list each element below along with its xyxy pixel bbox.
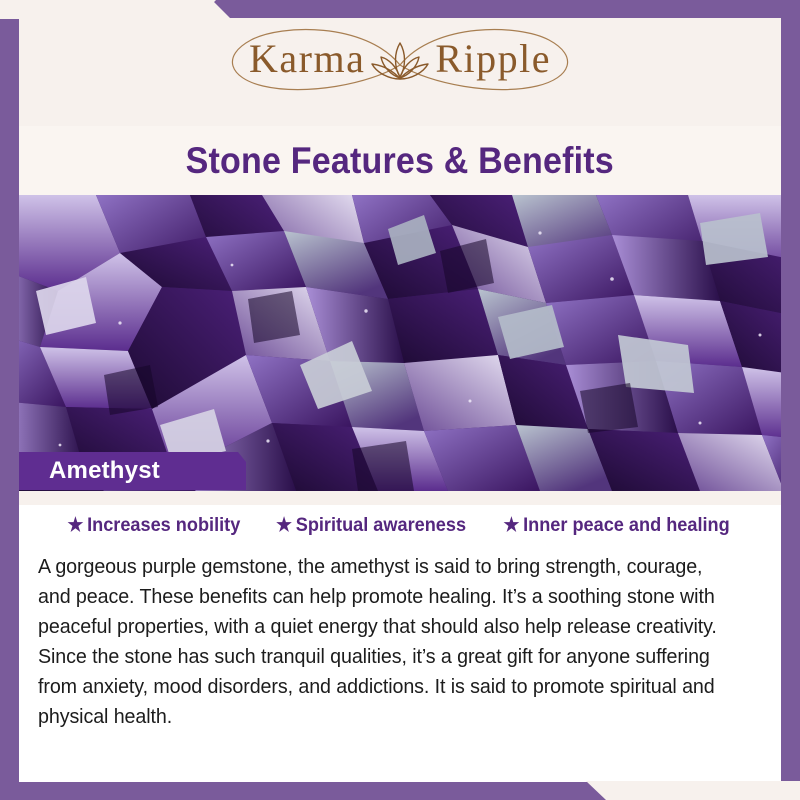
panel-top-strip [19, 491, 781, 505]
content-panel: ★ Increases nobility ★ Spiritual awarene… [19, 491, 781, 782]
benefits-list: ★ Increases nobility ★ Spiritual awarene… [19, 514, 781, 537]
benefit-label: Inner peace and healing [523, 514, 730, 537]
stone-description: A gorgeous purple gemstone, the amethyst… [38, 552, 739, 732]
lotus-icon [369, 37, 431, 87]
amethyst-crystal-cluster-icon [0, 195, 800, 491]
star-icon: ★ [68, 516, 84, 535]
stone-name-banner: Amethyst [0, 452, 246, 490]
stone-hero-image [0, 195, 800, 491]
benefit-item: ★ Inner peace and healing [504, 514, 730, 537]
stone-name-label: Amethyst [0, 457, 160, 485]
frame-corner-top-left-cut [0, 0, 216, 19]
star-icon: ★ [504, 516, 520, 535]
brand-logo: Karma Ripple [185, 26, 615, 104]
brand-wordmark: Karma Ripple [185, 34, 615, 84]
title-band: Stone Features & Benefits [0, 126, 800, 195]
frame-border-right [781, 0, 800, 800]
frame-corner-bottom-right-cut [586, 781, 800, 800]
benefit-item: ★ Increases nobility [68, 514, 241, 537]
brand-word-right: Ripple [435, 39, 551, 79]
brand-word-left: Karma [249, 39, 365, 79]
frame-border-left [0, 0, 19, 800]
infographic-canvas: Karma Ripple Stone Feat [0, 0, 800, 800]
page-title: Stone Features & Benefits [186, 140, 614, 182]
benefit-label: Spiritual awareness [296, 514, 466, 537]
benefit-item: ★ Spiritual awareness [276, 514, 466, 537]
benefit-label: Increases nobility [87, 514, 240, 537]
star-icon: ★ [276, 516, 292, 535]
